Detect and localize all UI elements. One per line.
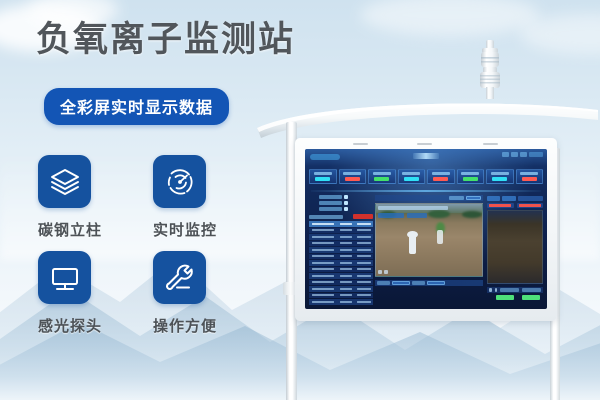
dashboard-left-panel (309, 195, 373, 306)
table-toolbar (309, 214, 373, 219)
stat-row (319, 195, 373, 199)
metric-value (404, 177, 419, 181)
table-cell (355, 241, 373, 247)
alert-button-row[interactable] (487, 203, 543, 208)
metric-value (345, 177, 360, 181)
feed-vegetation (428, 210, 450, 218)
metric-tile (486, 169, 514, 184)
video-footer-select[interactable] (427, 281, 445, 285)
feature-item-light-sensor: 感光探头 (38, 251, 153, 347)
monitoring-station (255, 36, 600, 400)
table-cell (355, 299, 373, 305)
table-cell (309, 280, 337, 286)
video-source-select[interactable] (466, 196, 481, 200)
stat-value (344, 201, 348, 205)
table-cell (309, 299, 337, 305)
table-cell (355, 280, 373, 286)
column-header (355, 221, 373, 227)
table-cell (355, 228, 373, 234)
dashboard-title (413, 153, 439, 159)
metric-label (432, 172, 450, 175)
dashboard-divider (311, 190, 541, 192)
table-row[interactable] (309, 260, 373, 266)
stat-label (319, 195, 342, 199)
table-row[interactable] (309, 293, 373, 299)
table-cell (309, 260, 337, 266)
table-cell (355, 273, 373, 279)
dashboard-right-panel (487, 195, 543, 300)
table-row[interactable] (309, 299, 373, 305)
table-cell (338, 247, 354, 253)
housing-mark-3 (483, 143, 498, 145)
video-toolbar-button[interactable] (449, 196, 464, 200)
feed-tag (407, 213, 427, 218)
metric-value (433, 177, 448, 181)
feature-label: 实时监控 (153, 219, 268, 240)
stat-value (344, 207, 348, 211)
table-row[interactable] (309, 247, 373, 253)
column-header (309, 221, 337, 227)
table-cell (338, 260, 354, 266)
stat-row (319, 201, 373, 205)
table-row[interactable] (309, 267, 373, 273)
table-cell (355, 247, 373, 253)
feature-item-steel-column: 碳钢立柱 (38, 155, 153, 251)
metric-label (314, 172, 332, 175)
table-row[interactable] (309, 234, 373, 240)
right-panel-button[interactable] (487, 196, 500, 201)
metric-tile (309, 169, 337, 184)
table-cell (309, 293, 337, 299)
page-title: 负氧离子监测站 (36, 22, 295, 57)
table-cell (309, 234, 337, 240)
metric-value (492, 177, 507, 181)
video-footer-bar[interactable] (375, 280, 483, 286)
feature-label: 操作方便 (153, 315, 268, 336)
metric-value (315, 177, 330, 181)
column-header (338, 221, 354, 227)
metric-label (461, 172, 479, 175)
dashboard-toolbar[interactable] (502, 152, 543, 157)
table-cell (309, 254, 337, 260)
table-cell (338, 234, 354, 240)
table-cell (355, 293, 373, 299)
feature-label: 感光探头 (38, 315, 153, 336)
table-row[interactable] (309, 286, 373, 292)
metric-tile (339, 169, 367, 184)
status-badge: 全彩屏实时显示数据 (44, 88, 229, 125)
table-cell (355, 267, 373, 273)
feature-item-realtime-monitor: 实时监控 (153, 155, 268, 251)
table-cell (309, 241, 337, 247)
right-panel-toolbar[interactable] (487, 195, 543, 201)
feed-control-button[interactable] (384, 270, 388, 274)
metric-tile (427, 169, 455, 184)
feature-grid: 碳钢立柱 实时监控 (38, 155, 268, 347)
table-cell (338, 228, 354, 234)
footer-icon[interactable] (495, 288, 498, 292)
stat-value (344, 195, 348, 199)
readout-value (522, 295, 540, 300)
poster-canvas: 负氧离子监测站 全彩屏实时显示数据 碳钢立柱 (0, 0, 600, 400)
dashboard-logo (310, 154, 340, 160)
cloud-3 (360, 0, 540, 36)
metric-label (373, 172, 391, 175)
weather-sensor (470, 40, 510, 106)
table-cell (355, 286, 373, 292)
table-title (309, 215, 343, 219)
table-cell (309, 286, 337, 292)
camera-feed[interactable] (375, 203, 483, 277)
stat-label (319, 201, 342, 205)
metric-label (520, 172, 538, 175)
housing-mark-1 (353, 143, 368, 145)
footer-icon[interactable] (489, 288, 492, 292)
toolbar-item[interactable] (511, 152, 518, 157)
video-footer-select[interactable] (392, 281, 410, 285)
table-cell (338, 241, 354, 247)
alert-button[interactable] (517, 203, 544, 208)
table-cell (355, 234, 373, 240)
readout-row (487, 295, 543, 300)
video-toolbar-group (449, 196, 481, 200)
table-cell (338, 267, 354, 273)
metric-label (491, 172, 509, 175)
right-panel-field[interactable] (518, 196, 543, 201)
table-row[interactable] (309, 280, 373, 286)
housing-mark-2 (417, 143, 432, 145)
readout-value (496, 295, 514, 300)
feature-item-easy-operation: 操作方便 (153, 251, 268, 347)
led-dashboard[interactable] (305, 149, 547, 309)
stat-row (319, 207, 373, 211)
table-cell (338, 299, 354, 305)
table-cell (338, 293, 354, 299)
display-housing (295, 138, 557, 321)
alert-button[interactable] (487, 203, 514, 208)
feed-controls[interactable] (378, 270, 388, 274)
table-row[interactable] (309, 254, 373, 260)
metric-tile (368, 169, 396, 184)
metric-label (402, 172, 420, 175)
video-footer-label (377, 281, 390, 285)
feature-label: 碳钢立柱 (38, 219, 153, 240)
table-header-row (309, 221, 373, 227)
metric-tile (398, 169, 426, 184)
table-cell (309, 247, 337, 253)
table-cell (338, 286, 354, 292)
table-row[interactable] (309, 228, 373, 234)
data-table[interactable] (309, 221, 373, 305)
feed-subject (437, 230, 443, 244)
table-alert-button[interactable] (353, 214, 373, 219)
metric-value (374, 177, 389, 181)
video-panel[interactable] (375, 195, 483, 286)
table-cell (309, 228, 337, 234)
video-footer-label (412, 281, 425, 285)
right-panel-button[interactable] (502, 196, 515, 201)
table-row[interactable] (309, 241, 373, 247)
footer-label (522, 288, 541, 292)
monitor-icon (38, 251, 91, 304)
table-cell (309, 273, 337, 279)
table-cell (338, 254, 354, 260)
layers-icon (38, 155, 91, 208)
metric-tile-row (309, 169, 543, 184)
table-cell (355, 254, 373, 260)
feed-subject (407, 231, 418, 238)
feed-caption (378, 206, 448, 210)
toolbar-item[interactable] (502, 152, 509, 157)
metric-value (463, 177, 478, 181)
secondary-camera-feed[interactable] (487, 210, 543, 284)
metric-tile (457, 169, 485, 184)
feed-vegetation (462, 211, 482, 218)
video-toolbar[interactable] (375, 195, 483, 201)
table-cell (355, 260, 373, 266)
metric-tile (516, 169, 544, 184)
toolbar-item[interactable] (529, 152, 543, 157)
table-cell (338, 280, 354, 286)
stat-label (319, 207, 342, 211)
metric-value (522, 177, 537, 181)
wrench-icon (153, 251, 206, 304)
feed-control-button[interactable] (378, 270, 382, 274)
metric-label (343, 172, 361, 175)
table-row[interactable] (309, 273, 373, 279)
toolbar-item[interactable] (520, 152, 527, 157)
footer-label (500, 288, 519, 292)
right-panel-footer[interactable] (487, 287, 543, 293)
table-cell (338, 273, 354, 279)
radar-icon (153, 155, 206, 208)
feed-tag (378, 213, 404, 218)
table-cell (309, 267, 337, 273)
